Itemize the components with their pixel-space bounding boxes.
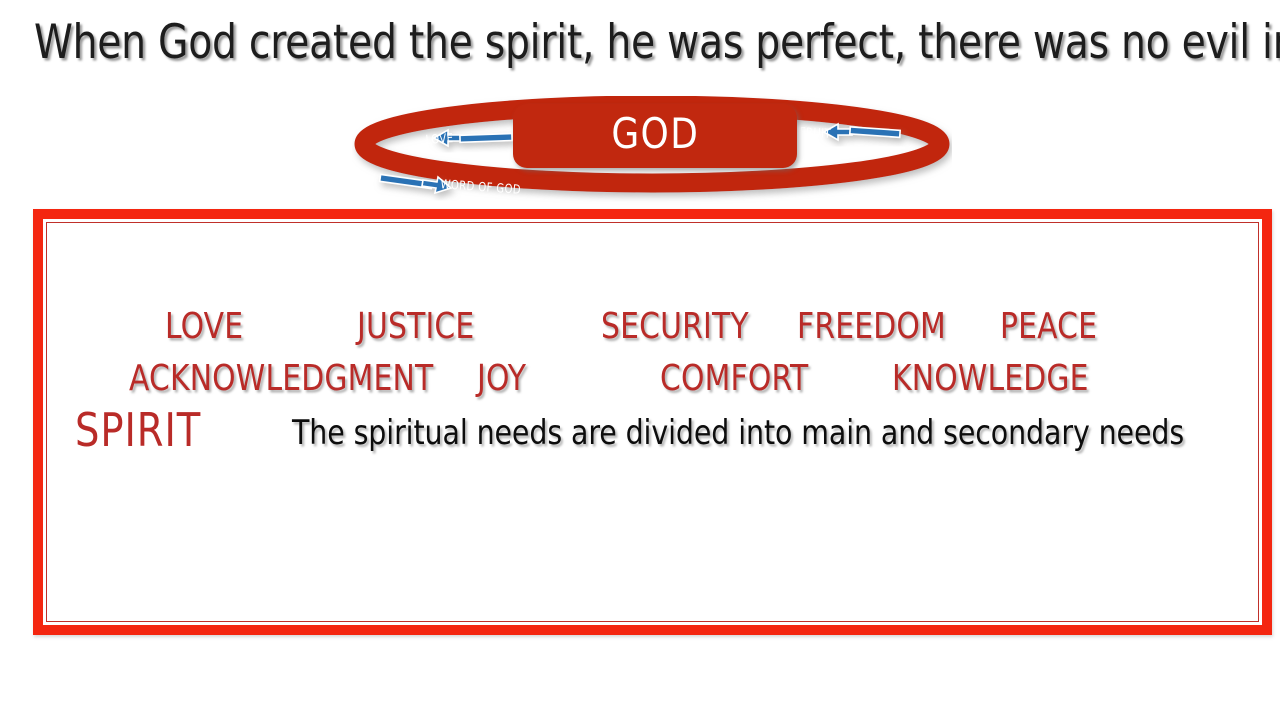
page-title: When God created the spirit, he was perf… [34, 14, 1187, 72]
god-cycle-diagram: LOVE FRUIT WORD OF GOD GOD [352, 96, 952, 211]
need-word-justice: JUSTICE [357, 307, 474, 347]
god-box-label: GOD [611, 113, 699, 159]
need-word-joy: JOY [477, 359, 526, 399]
ring-label-fruit: FRUIT [799, 124, 831, 141]
god-box: GOD [513, 104, 797, 168]
needs-caption: The spiritual needs are divided into mai… [292, 413, 1184, 453]
content-panel: LOVE JUSTICE SECURITY FREEDOM PEACE ACKN… [46, 222, 1259, 622]
content-frame: LOVE JUSTICE SECURITY FREEDOM PEACE ACKN… [33, 209, 1272, 635]
ring-label-love: LOVE [425, 130, 454, 147]
slide-canvas: When God created the spirit, he was perf… [0, 0, 1280, 720]
spirit-label: SPIRIT [75, 405, 201, 455]
content-frame-gap: LOVE JUSTICE SECURITY FREEDOM PEACE ACKN… [43, 219, 1262, 625]
need-word-knowledge: KNOWLEDGE [892, 359, 1089, 399]
need-word-security: SECURITY [601, 307, 749, 347]
need-word-love: LOVE [165, 307, 243, 347]
need-word-freedom: FREEDOM [797, 307, 946, 347]
need-word-comfort: COMFORT [660, 359, 808, 399]
need-word-acknowledgment: ACKNOWLEDGMENT [129, 359, 433, 399]
need-word-peace: PEACE [1000, 307, 1097, 347]
